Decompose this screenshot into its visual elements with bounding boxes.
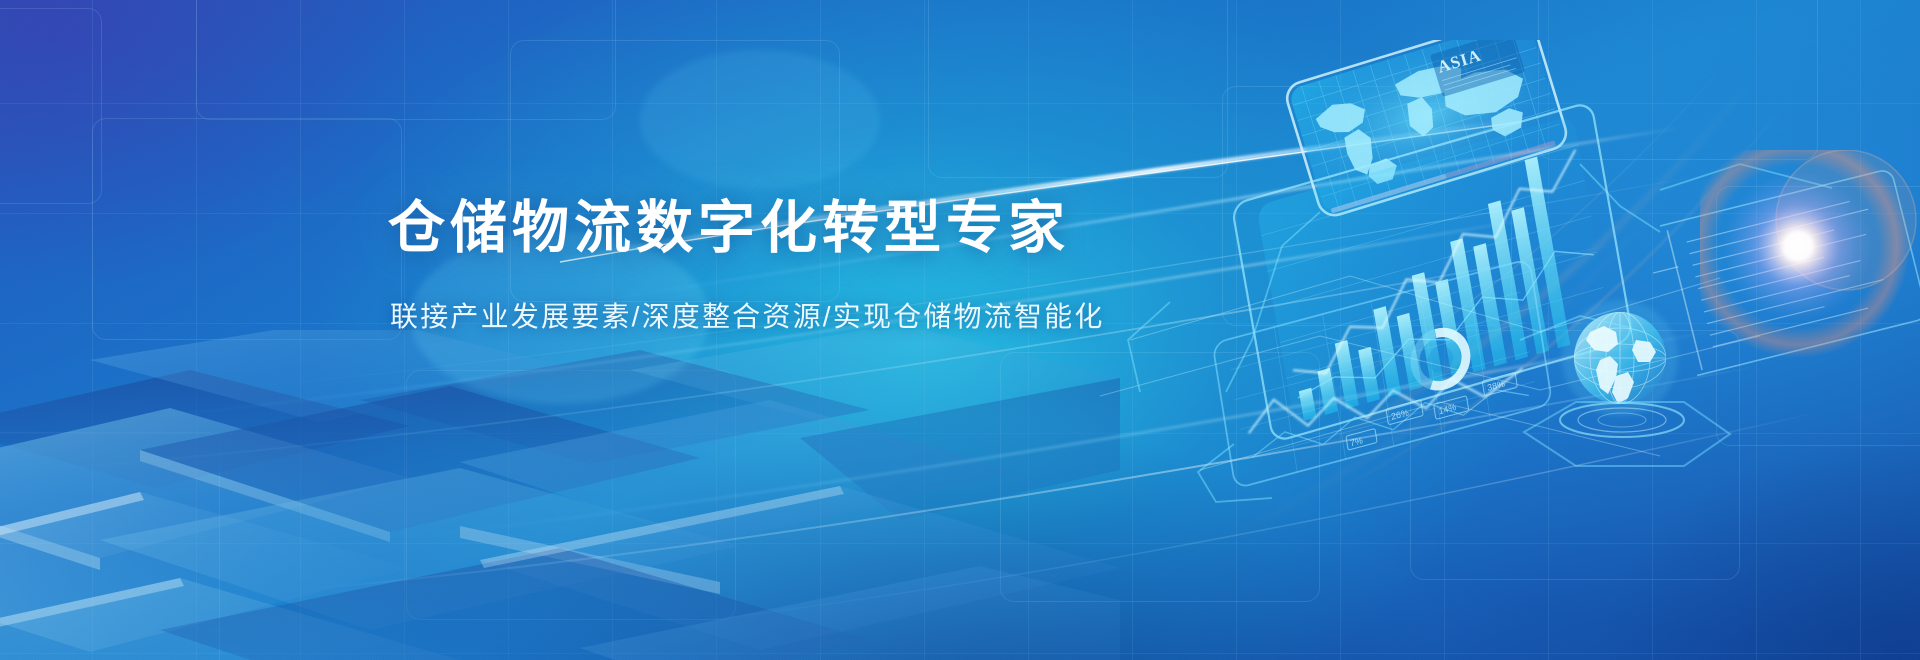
- lens-flare: [1700, 150, 1920, 380]
- hero-banner: ASIA: [0, 0, 1920, 660]
- isometric-tile-floor: [0, 330, 1120, 660]
- page-subtitle: 联接产业发展要素/深度整合资源/实现仓储物流智能化: [390, 295, 1148, 335]
- page-title: 仓储物流数字化转型专家: [388, 196, 1148, 261]
- hero-copy: 仓储物流数字化转型专家 联接产业发展要素/深度整合资源/实现仓储物流智能化: [388, 196, 1148, 335]
